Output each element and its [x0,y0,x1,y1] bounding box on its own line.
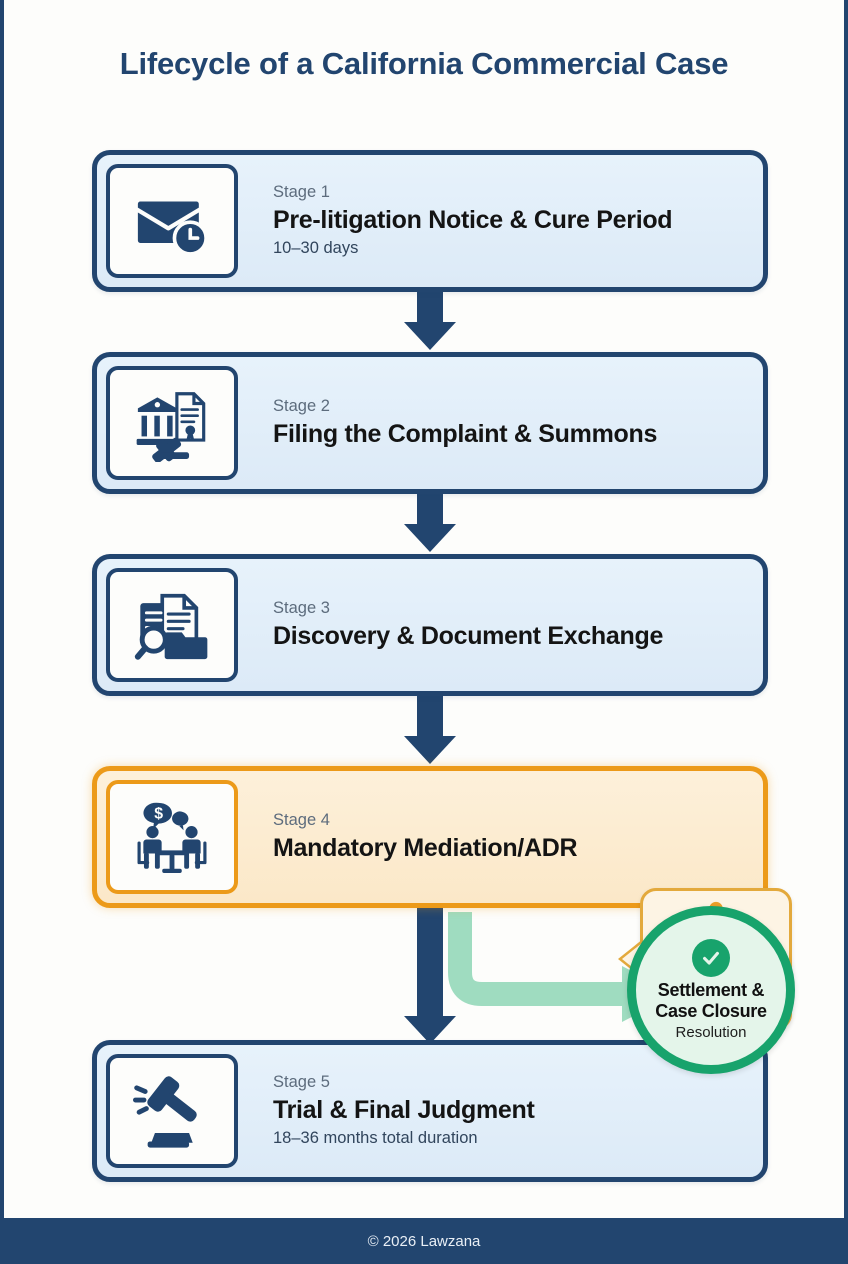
page-title: Lifecycle of a California Commercial Cas… [4,46,844,82]
stage-text-1: Stage 1 Pre-litigation Notice & Cure Per… [247,155,763,287]
settlement-subtitle: Resolution [676,1024,747,1041]
check-circle-icon [692,939,730,977]
stage-label: Stage 4 [273,811,763,831]
stage-card-4[interactable]: $ Stage 4 [92,766,768,908]
infographic-page: Lifecycle of a California Commercial Cas… [0,0,848,1264]
stage-title: Trial & Final Judgment [273,1096,763,1126]
flow-diagram: Stage 1 Pre-litigation Notice & Cure Per… [4,150,848,1210]
documents-magnifier-folder-icon [106,568,238,682]
stage-title: Mandatory Mediation/ADR [273,834,763,864]
stage-card-2[interactable]: Stage 2 Filing the Complaint & Summons [92,352,768,494]
stage-label: Stage 5 [273,1073,763,1093]
stage-subtitle: 18–36 months total duration [273,1129,763,1149]
copyright-text: © 2026 Lawzana [368,1233,481,1250]
footer-bar: © 2026 Lawzana [4,1218,844,1264]
courthouse-document-gavel-icon [106,366,238,480]
stage-card-3[interactable]: Stage 3 Discovery & Document Exchange [92,554,768,696]
settlement-title-line-2: Case Closure [655,1001,766,1022]
envelope-clock-icon [106,164,238,278]
mediation-table-icon: $ [106,780,238,894]
stage-subtitle: 10–30 days [273,239,763,259]
stage-title: Discovery & Document Exchange [273,622,763,652]
settlement-outcome-node[interactable]: Settlement & Case Closure Resolution [627,906,795,1074]
stage-label: Stage 1 [273,183,763,203]
stage-label: Stage 3 [273,599,763,619]
stage-title: Filing the Complaint & Summons [273,420,763,450]
stage-title: Pre-litigation Notice & Cure Period [273,206,763,236]
stage-text-2: Stage 2 Filing the Complaint & Summons [247,357,763,489]
stage-label: Stage 2 [273,397,763,417]
stage-card-1[interactable]: Stage 1 Pre-litigation Notice & Cure Per… [92,150,768,292]
svg-text:$: $ [154,806,163,823]
stage-text-4: Stage 4 Mandatory Mediation/ADR [247,771,763,903]
stage-text-3: Stage 3 Discovery & Document Exchange [247,559,763,691]
settlement-title-line-1: Settlement & [658,980,764,1001]
gavel-icon [106,1054,238,1168]
